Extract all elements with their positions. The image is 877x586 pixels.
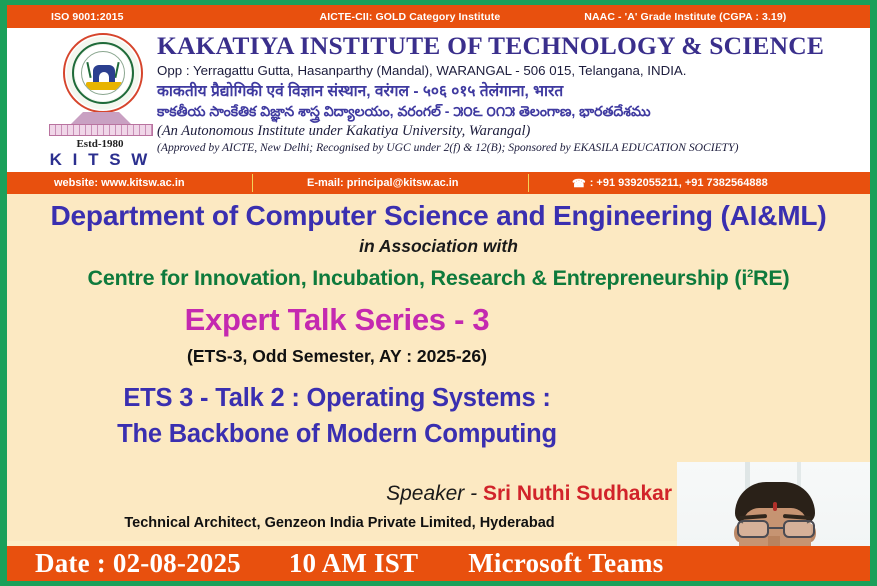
- accreditation-aicte: AICTE-CII: GOLD Category Institute: [320, 11, 501, 23]
- institute-name-hindi: काकतीय प्रैद्योगिकी एवं विज्ञान संस्थान,…: [157, 82, 867, 102]
- photo-lens-left: [737, 520, 769, 538]
- accreditation-naac: NAAC - 'A' Grade Institute (CGPA : 3.19): [584, 11, 786, 23]
- speaker-label: Speaker -: [386, 482, 483, 505]
- phone-icon: ☎: [572, 177, 586, 190]
- accreditation-iso: ISO 9001:2015: [51, 11, 124, 23]
- contact-phone: ☎ : +91 9392055211, +91 7382564888: [572, 172, 768, 194]
- centre-name-suffix: RE): [753, 266, 789, 290]
- institute-name-telugu: కాకతీయ సాంకేతిక విజ్ఞాన శాస్త్ర విద్యాలయ…: [157, 102, 867, 121]
- institute-address: Opp : Yerragattu Gutta, Hasanparthy (Man…: [157, 61, 867, 80]
- institute-seal-icon: [63, 33, 143, 113]
- seal-torch-left-icon: [86, 62, 91, 78]
- talk-title-line-1: ETS 3 - Talk 2 : Operating Systems :: [7, 384, 667, 413]
- event-time: 10 AM IST: [289, 548, 418, 579]
- institute-autonomous-note: (An Autonomous Institute under Kakatiya …: [157, 122, 867, 140]
- logo-estd-label: Estd-1980: [39, 138, 161, 150]
- speaker-affiliation: Technical Architect, Genzeon India Priva…: [7, 515, 672, 531]
- poster-body: Department of Computer Science and Engin…: [7, 194, 870, 541]
- event-platform: Microsoft Teams: [468, 548, 663, 579]
- centre-name-prefix: Centre for Innovation, Incubation, Resea…: [88, 266, 748, 290]
- pedestal-base: [49, 124, 153, 136]
- seal-torch-right-icon: [114, 62, 119, 78]
- contact-phone-numbers: : +91 9392055211, +91 7382564888: [590, 177, 768, 189]
- photo-lens-right: [783, 520, 815, 538]
- speaker-name: Sri Nuthi Sudhakar: [483, 482, 672, 505]
- contact-divider-2: [528, 174, 529, 192]
- logo-pedestal: [45, 112, 157, 138]
- contact-bar: website: www.kitsw.ac.in E-mail: princip…: [7, 172, 870, 194]
- contact-website[interactable]: website: www.kitsw.ac.in: [54, 172, 185, 194]
- centre-name: Centre for Innovation, Incubation, Resea…: [7, 266, 870, 291]
- series-subtitle: (ETS-3, Odd Semester, AY : 2025-26): [7, 346, 667, 367]
- event-poster: ISO 9001:2015 AICTE-CII: GOLD Category I…: [0, 0, 877, 586]
- series-title: Expert Talk Series - 3: [7, 302, 667, 338]
- letterhead: Estd-1980 K I T S W KAKATIYA INSTITUTE O…: [7, 28, 870, 172]
- speaker-line: Speaker - Sri Nuthi Sudhakar: [7, 482, 672, 506]
- contact-divider-1: [252, 174, 253, 192]
- seal-emblem-icon: [81, 51, 125, 95]
- accreditation-bar: ISO 9001:2015 AICTE-CII: GOLD Category I…: [7, 5, 870, 28]
- event-date: Date : 02-08-2025: [35, 548, 241, 579]
- logo-acronym: K I T S W: [39, 150, 161, 170]
- department-title: Department of Computer Science and Engin…: [0, 200, 877, 232]
- photo-glasses-bridge: [769, 527, 783, 529]
- institute-details: KAKATIYA INSTITUTE OF TECHNOLOGY & SCIEN…: [157, 32, 867, 155]
- contact-email[interactable]: E-mail: principal@kitsw.ac.in: [307, 172, 459, 194]
- pedestal-top: [71, 112, 131, 124]
- institute-name: KAKATIYA INSTITUTE OF TECHNOLOGY & SCIEN…: [157, 32, 867, 60]
- seal-band-icon: [86, 82, 122, 90]
- institute-approval-note: (Approved by AICTE, New Delhi; Recognise…: [157, 140, 867, 155]
- talk-title-line-2: The Backbone of Modern Computing: [7, 420, 667, 449]
- association-label: in Association with: [7, 236, 870, 257]
- event-footer-bar: Date : 02-08-2025 10 AM IST Microsoft Te…: [7, 546, 870, 581]
- photo-forehead-mark: [773, 502, 777, 511]
- institute-logo: Estd-1980 K I T S W: [39, 30, 161, 170]
